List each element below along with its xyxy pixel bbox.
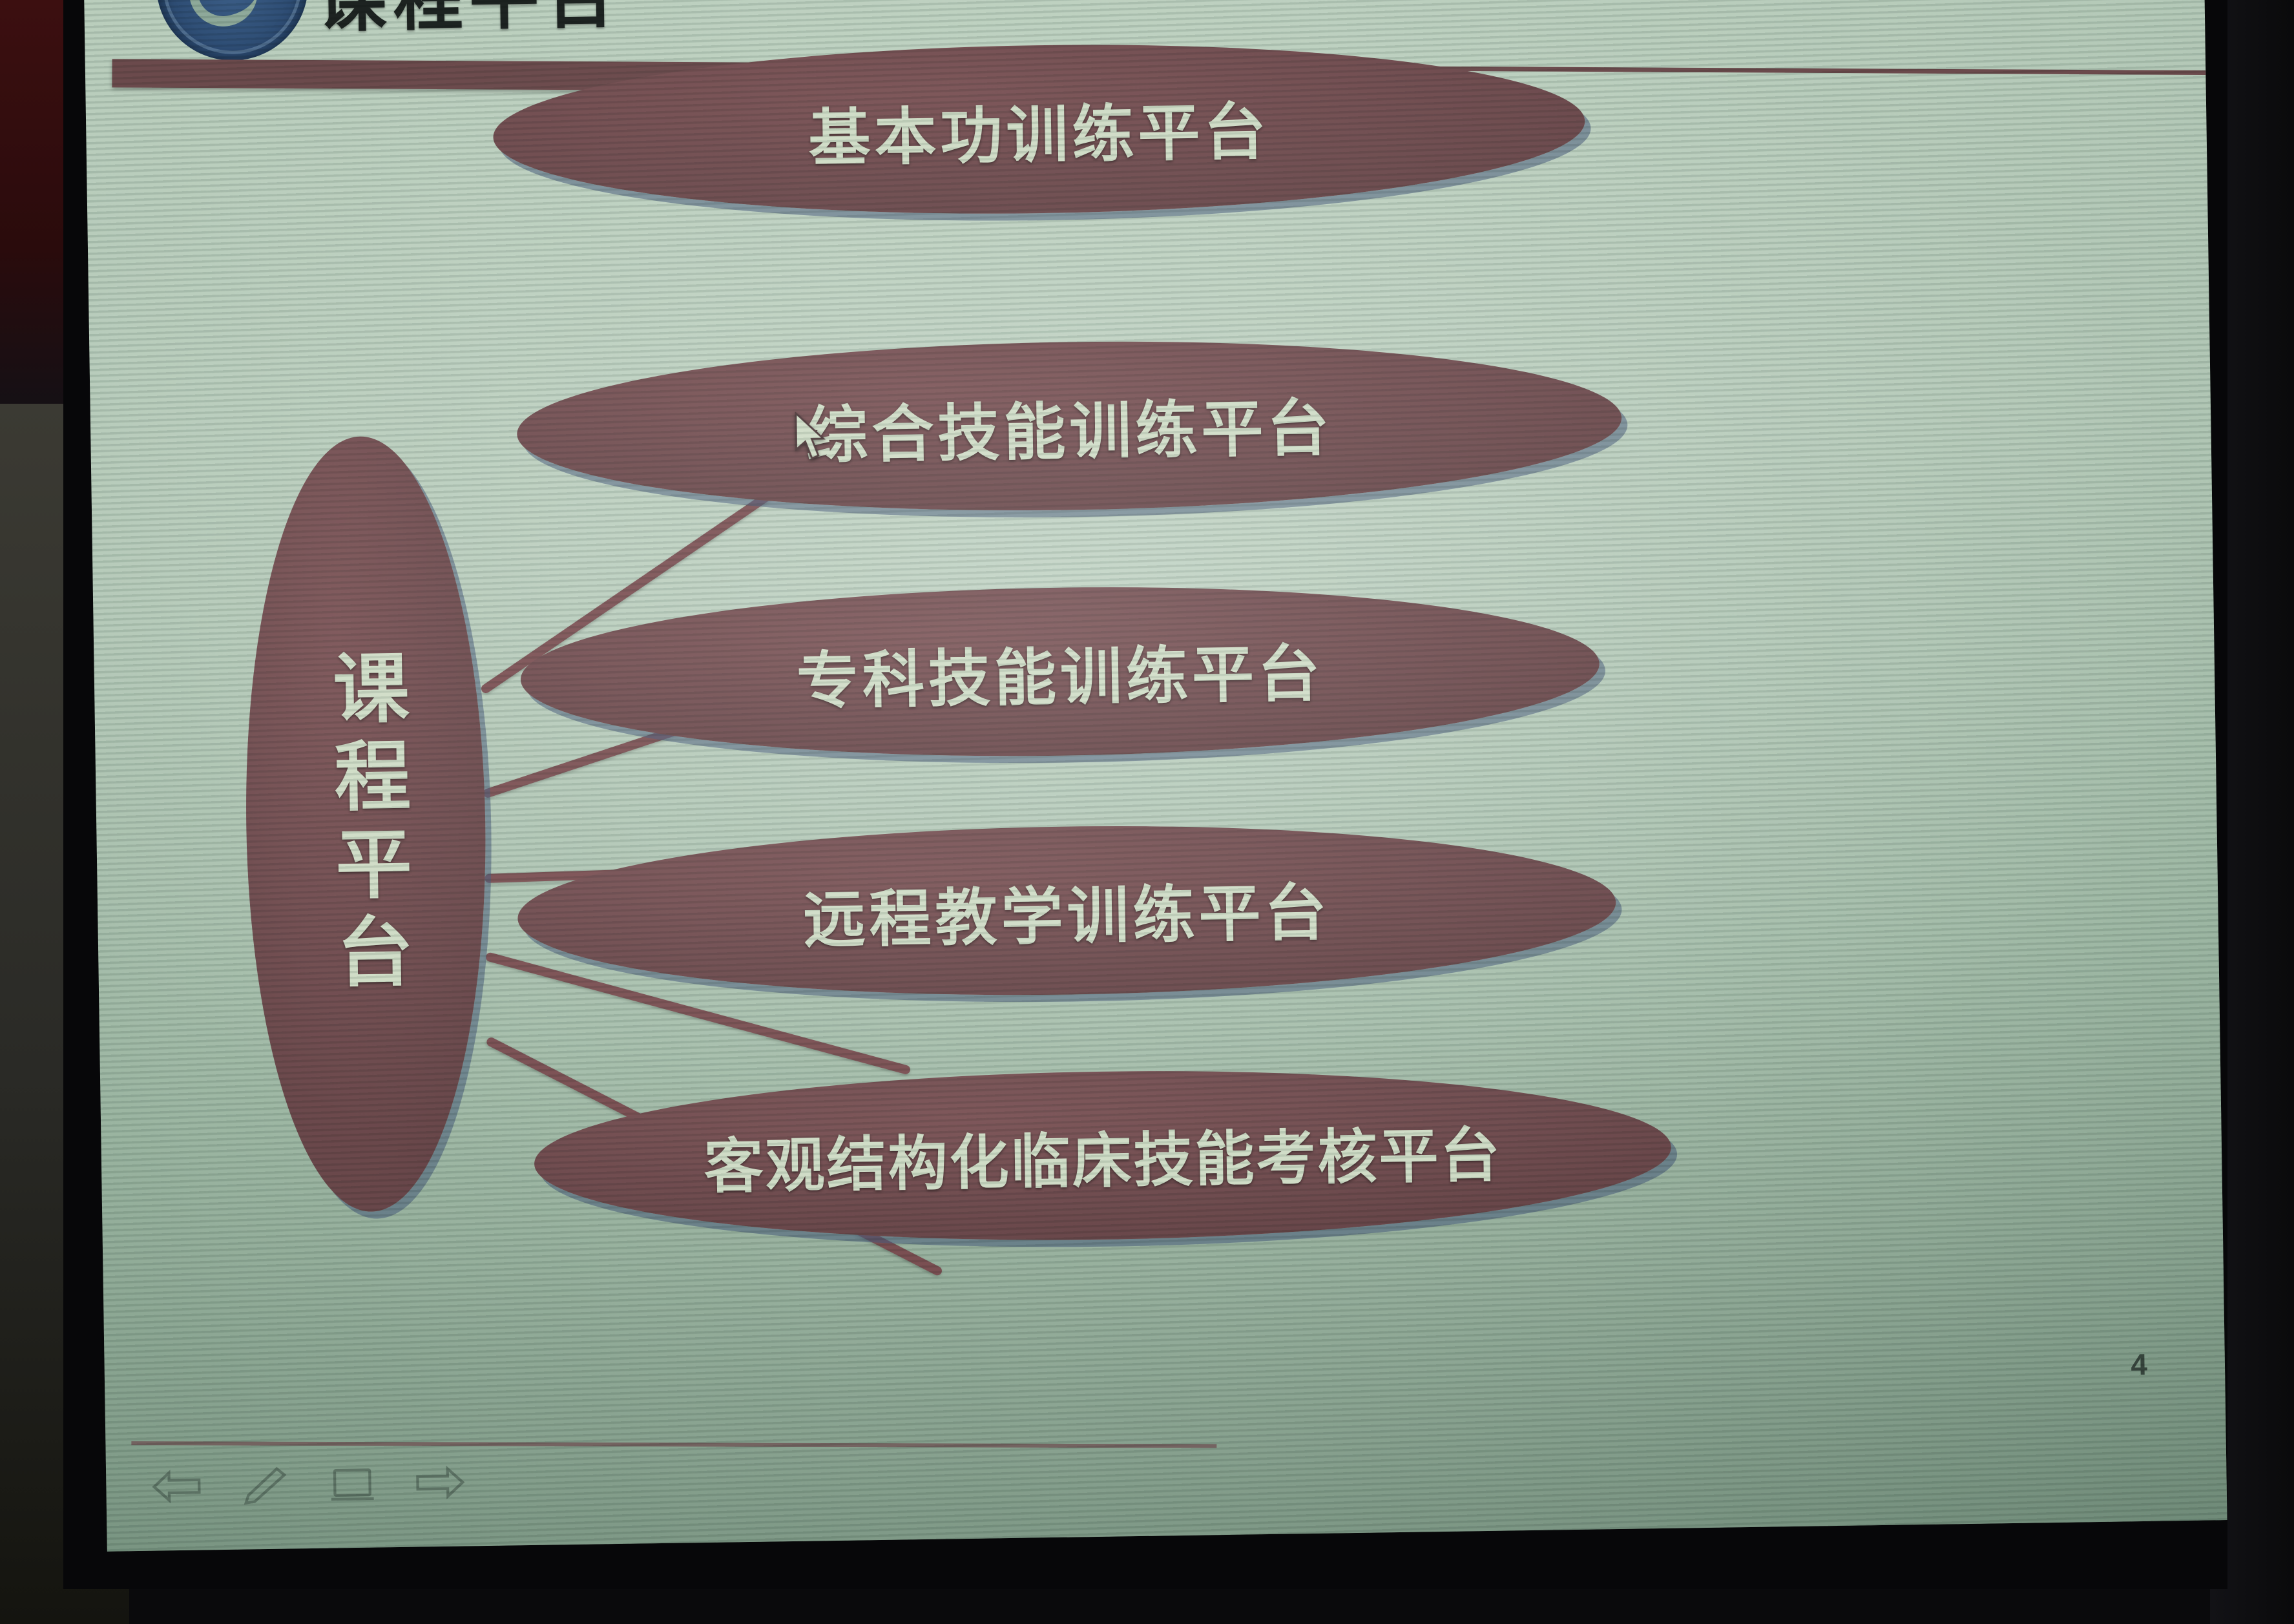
mouse-cursor-icon — [795, 411, 829, 463]
right-arrow-icon — [415, 1463, 466, 1503]
diagram-node-osce-label: 客观结构化临床技能考核平台 — [704, 1107, 1503, 1204]
diagram-node-remote-teaching-label: 远程教学训练平台 — [802, 862, 1331, 959]
left-arrow-icon — [151, 1466, 202, 1507]
slide-menu-button[interactable] — [327, 1464, 378, 1504]
diagram-node-root-label: 课程平台 — [323, 648, 408, 1001]
diagram-node-comprehensive-skills-label: 综合技能训练平台 — [805, 377, 1333, 475]
powerpoint-slide: 课程平台 课程平台 基本功训练平台 综合技能训练平台 专科技能训练平台 — [84, 0, 2227, 1552]
diagram-node-comprehensive-skills[interactable]: 综合技能训练平台 — [516, 334, 1623, 518]
presentation-controls — [151, 1463, 466, 1507]
slide-title: 课程平台 — [316, 0, 622, 46]
diagram-node-specialty-skills[interactable]: 专科技能训练平台 — [519, 579, 1601, 764]
diagram-node-specialty-skills-label: 专科技能训练平台 — [796, 623, 1324, 720]
projection-screen: 课程平台 课程平台 基本功训练平台 综合技能训练平台 专科技能训练平台 — [84, 0, 2227, 1552]
footer-rule — [131, 1441, 1216, 1448]
projector-photo: 课程平台 课程平台 基本功训练平台 综合技能训练平台 专科技能训练平台 — [0, 0, 2294, 1624]
logo-ring — [162, 0, 302, 55]
next-slide-button[interactable] — [415, 1463, 466, 1503]
pen-tool-button[interactable] — [239, 1465, 290, 1506]
pen-icon — [239, 1465, 290, 1506]
university-seal-logo-icon — [155, 0, 309, 61]
diagram-node-root[interactable]: 课程平台 — [240, 435, 491, 1213]
slide-number: 4 — [2131, 1347, 2147, 1382]
previous-slide-button[interactable] — [151, 1466, 202, 1507]
screen-icon — [327, 1464, 378, 1504]
diagram-node-osce[interactable]: 客观结构化临床技能考核平台 — [533, 1063, 1673, 1248]
diagram-node-basic-skills-label: 基本功训练平台 — [808, 81, 1270, 178]
diagram-node-remote-teaching[interactable]: 远程教学训练平台 — [517, 818, 1618, 1003]
